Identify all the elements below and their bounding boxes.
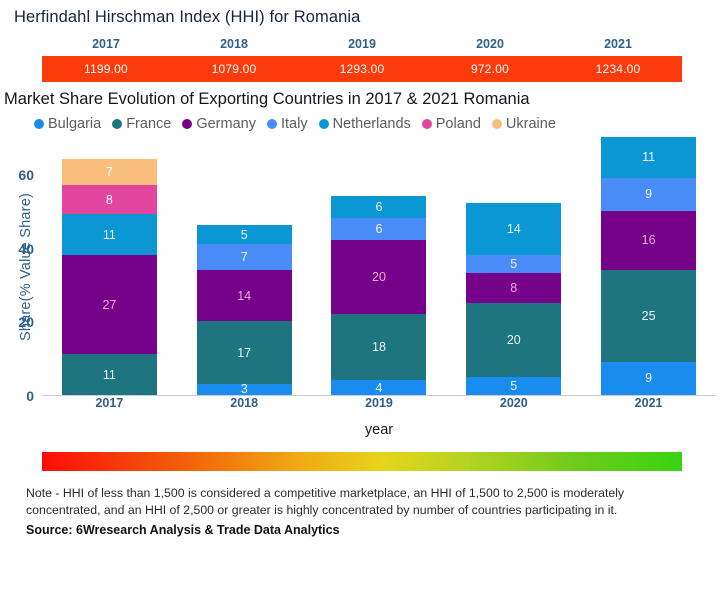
legend-swatch-icon bbox=[267, 119, 277, 129]
legend-swatch-icon bbox=[319, 119, 329, 129]
legend-item-france[interactable]: France bbox=[112, 116, 171, 132]
bar-segment[interactable]: 18 bbox=[331, 314, 426, 380]
hhi-year-label: 2018 bbox=[170, 37, 298, 51]
bar-segment[interactable]: 11 bbox=[62, 354, 157, 395]
hhi-value-row: 1199.001079.001293.00972.001234.00 bbox=[42, 56, 682, 82]
bar-segment[interactable]: 8 bbox=[466, 273, 561, 302]
legend-label: Netherlands bbox=[333, 116, 411, 132]
concentration-gradient-bar bbox=[42, 452, 682, 471]
legend-label: Ukraine bbox=[506, 116, 556, 132]
x-tick-label: 2020 bbox=[466, 396, 561, 410]
x-tick-label: 2017 bbox=[62, 396, 157, 410]
hhi-value: 1293.00 bbox=[298, 62, 426, 76]
bar-segment[interactable]: 17 bbox=[197, 321, 292, 384]
footer: Note - HHI of less than 1,500 is conside… bbox=[26, 485, 698, 537]
legend-swatch-icon bbox=[112, 119, 122, 129]
footer-note: Note - HHI of less than 1,500 is conside… bbox=[26, 485, 698, 520]
hhi-year-label: 2017 bbox=[42, 37, 170, 51]
bar-segment[interactable]: 3 bbox=[197, 384, 292, 395]
legend-item-poland[interactable]: Poland bbox=[422, 116, 481, 132]
legend-label: Bulgaria bbox=[48, 116, 101, 132]
bar-column-2020[interactable]: 5208514 bbox=[466, 203, 561, 395]
legend-item-ukraine[interactable]: Ukraine bbox=[492, 116, 556, 132]
bar-column-2017[interactable]: 11271187 bbox=[62, 159, 157, 395]
x-axis-title: year bbox=[34, 422, 724, 438]
footer-source: Source: 6Wresearch Analysis & Trade Data… bbox=[26, 523, 698, 537]
bar-segment[interactable]: 27 bbox=[62, 255, 157, 355]
bar-column-2019[interactable]: 4182066 bbox=[331, 196, 426, 395]
hhi-value: 972.00 bbox=[426, 62, 554, 76]
hhi-value: 1079.00 bbox=[170, 62, 298, 76]
x-tick-label: 2019 bbox=[331, 396, 426, 410]
legend-item-netherlands[interactable]: Netherlands bbox=[319, 116, 411, 132]
bar-segment[interactable]: 11 bbox=[601, 137, 696, 178]
bar-segment[interactable]: 14 bbox=[466, 203, 561, 255]
legend-item-italy[interactable]: Italy bbox=[267, 116, 308, 132]
legend-label: France bbox=[126, 116, 171, 132]
bar-segment[interactable]: 4 bbox=[331, 380, 426, 395]
legend-swatch-icon bbox=[492, 119, 502, 129]
bar-segment[interactable]: 9 bbox=[601, 362, 696, 395]
legend-label: Italy bbox=[281, 116, 308, 132]
hhi-value: 1199.00 bbox=[42, 62, 170, 76]
bar-segment[interactable]: 5 bbox=[466, 255, 561, 273]
hhi-title: Herfindahl Hirschman Index (HHI) for Rom… bbox=[0, 6, 724, 27]
bar-group: 1127118731714754182066520851492516911 bbox=[42, 138, 716, 396]
y-tick-label: 40 bbox=[18, 241, 34, 257]
y-tick-label: 60 bbox=[18, 167, 34, 183]
legend-swatch-icon bbox=[34, 119, 44, 129]
chart-legend: BulgariaFranceGermanyItalyNetherlandsPol… bbox=[0, 109, 724, 132]
hhi-panel: Herfindahl Hirschman Index (HHI) for Rom… bbox=[0, 0, 724, 82]
bar-segment[interactable]: 20 bbox=[466, 303, 561, 377]
bar-segment[interactable]: 25 bbox=[601, 270, 696, 362]
x-tick-label: 2018 bbox=[197, 396, 292, 410]
legend-item-germany[interactable]: Germany bbox=[182, 116, 256, 132]
plot-area: Share(% Value Share) 0204060 11271187317… bbox=[0, 138, 724, 396]
bar-segment[interactable]: 7 bbox=[197, 244, 292, 270]
bar-segment[interactable]: 16 bbox=[601, 211, 696, 270]
chart-title: Market Share Evolution of Exporting Coun… bbox=[0, 82, 724, 109]
bar-segment[interactable]: 6 bbox=[331, 196, 426, 218]
bar-column-2021[interactable]: 92516911 bbox=[601, 137, 696, 395]
y-tick-label: 0 bbox=[26, 388, 34, 404]
bar-segment[interactable]: 6 bbox=[331, 218, 426, 240]
bar-segment[interactable]: 11 bbox=[62, 214, 157, 255]
bar-segment[interactable]: 5 bbox=[466, 377, 561, 395]
bar-segment[interactable]: 7 bbox=[62, 159, 157, 185]
legend-label: Poland bbox=[436, 116, 481, 132]
legend-swatch-icon bbox=[182, 119, 192, 129]
y-axis-ticks: 0204060 bbox=[0, 138, 38, 396]
bar-segment[interactable]: 5 bbox=[197, 225, 292, 243]
legend-item-bulgaria[interactable]: Bulgaria bbox=[34, 116, 101, 132]
bar-segment[interactable]: 8 bbox=[62, 185, 157, 214]
legend-swatch-icon bbox=[422, 119, 432, 129]
x-tick-label: 2021 bbox=[601, 396, 696, 410]
market-share-chart: Market Share Evolution of Exporting Coun… bbox=[0, 82, 724, 438]
hhi-value: 1234.00 bbox=[554, 62, 682, 76]
x-axis-tick-labels: 20172018201920202021 bbox=[42, 396, 716, 410]
bar-segment[interactable]: 14 bbox=[197, 270, 292, 322]
hhi-year-header-row: 20172018201920202021 bbox=[42, 37, 682, 51]
hhi-year-label: 2019 bbox=[298, 37, 426, 51]
legend-label: Germany bbox=[196, 116, 256, 132]
y-tick-label: 20 bbox=[18, 314, 34, 330]
bar-segment[interactable]: 20 bbox=[331, 240, 426, 314]
bar-segment[interactable]: 9 bbox=[601, 178, 696, 211]
bar-column-2018[interactable]: 3171475 bbox=[197, 225, 292, 395]
hhi-year-label: 2021 bbox=[554, 37, 682, 51]
hhi-year-label: 2020 bbox=[426, 37, 554, 51]
